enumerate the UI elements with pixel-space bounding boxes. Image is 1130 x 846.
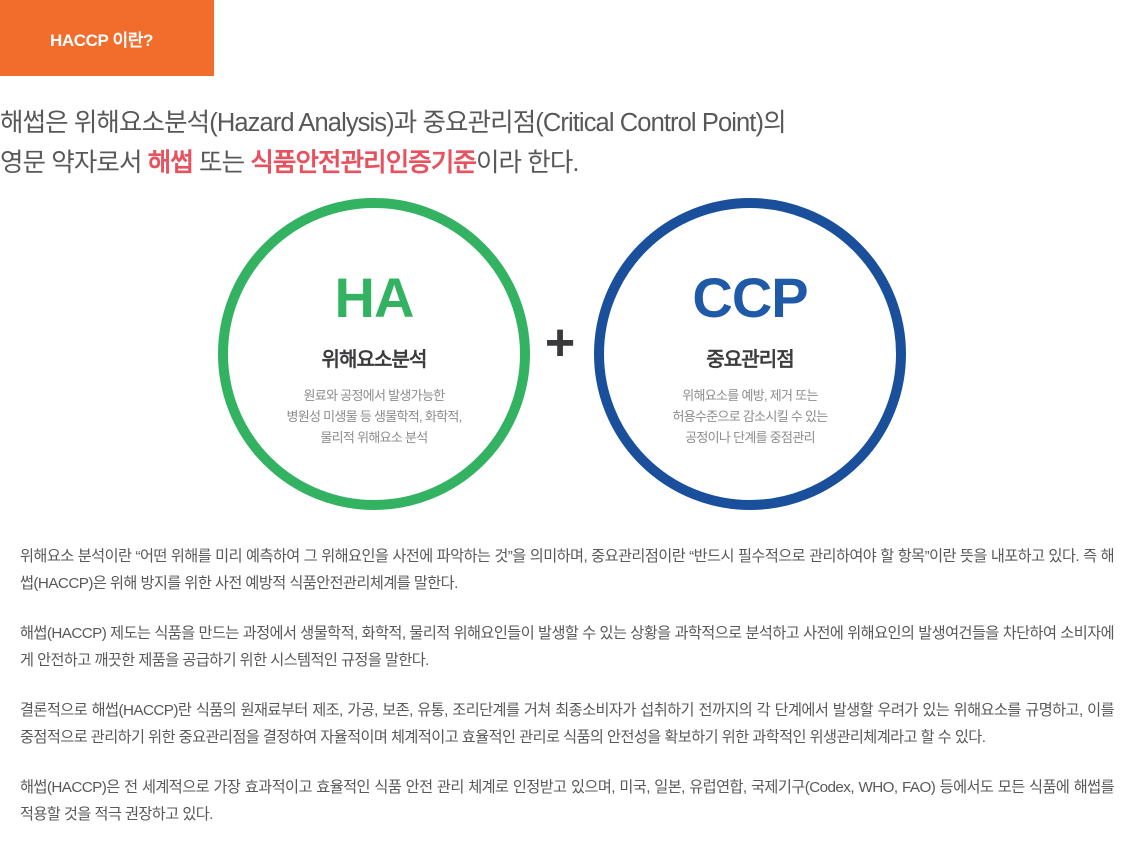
ccp-circle: CCP 중요관리점 위해요소를 예방, 제거 또는 허용수준으로 감소시킬 수 … <box>594 198 906 510</box>
ccp-description: 위해요소를 예방, 제거 또는 허용수준으로 감소시킬 수 있는 공정이나 단계… <box>672 385 827 448</box>
plus-icon: + <box>540 322 580 364</box>
badge-label: HACCP 이란? <box>0 26 153 51</box>
ha-desc-line-1: 원료와 공정에서 발생가능한 <box>286 385 461 406</box>
ha-desc-line-3: 물리적 위해요소 분석 <box>286 427 461 448</box>
ccp-acronym: CCP <box>692 270 807 326</box>
haccp-diagram: HA 위해요소분석 원료와 공정에서 발생가능한 병원성 미생물 등 생물학적,… <box>0 196 1130 526</box>
lead-highlight-haeseop: 해썹 <box>148 149 193 177</box>
lead-line-1-text: 해썹은 위해요소분석(Hazard Analysis)과 중요관리점(Criti… <box>0 109 786 137</box>
page-title: 해썹은 위해요소분석(Hazard Analysis)과 중요관리점(Criti… <box>0 103 1090 183</box>
ccp-desc-line-3: 공정이나 단계를 중점관리 <box>672 427 827 448</box>
ha-description: 원료와 공정에서 발생가능한 병원성 미생물 등 생물학적, 화학적, 물리적 … <box>286 385 461 448</box>
ha-circle: HA 위해요소분석 원료와 공정에서 발생가능한 병원성 미생물 등 생물학적,… <box>218 198 530 510</box>
body-paragraph-4: 해썹(HACCP)은 전 세계적으로 가장 효과적이고 효율적인 식품 안전 관… <box>20 774 1114 828</box>
body-paragraph-1: 위해요소 분석이란 “어떤 위해를 미리 예측하여 그 위해요인을 사전에 파악… <box>20 543 1114 597</box>
ha-subtitle: 위해요소분석 <box>322 343 427 372</box>
lead-line-2-part3: 이라 한다. <box>476 149 579 177</box>
ccp-desc-line-2: 허용수준으로 감소시킬 수 있는 <box>672 406 827 427</box>
ha-acronym: HA <box>335 270 414 326</box>
lead-line-2-part2: 또는 <box>193 149 251 177</box>
ha-desc-line-2: 병원성 미생물 등 생물학적, 화학적, <box>286 406 461 427</box>
lead-line-2-part1: 영문 약자로서 <box>0 149 148 177</box>
lead-highlight-standard: 식품안전관리인증기준 <box>250 149 476 177</box>
body-paragraph-3: 결론적으로 해썹(HACCP)란 식품의 원재료부터 제조, 가공, 보존, 유… <box>20 697 1114 751</box>
haccp-section-badge: HACCP 이란? <box>0 0 214 76</box>
ccp-subtitle: 중요관리점 <box>706 343 794 372</box>
ccp-desc-line-1: 위해요소를 예방, 제거 또는 <box>672 385 827 406</box>
body-text: 위해요소 분석이란 “어떤 위해를 미리 예측하여 그 위해요인을 사전에 파악… <box>20 543 1114 828</box>
lead-line-2: 영문 약자로서 해썹 또는 식품안전관리인증기준이라 한다. <box>0 143 1090 183</box>
body-paragraph-2: 해썹(HACCP) 제도는 식품을 만드는 과정에서 생물학적, 화학적, 물리… <box>20 620 1114 674</box>
lead-line-1: 해썹은 위해요소분석(Hazard Analysis)과 중요관리점(Criti… <box>0 103 1090 143</box>
